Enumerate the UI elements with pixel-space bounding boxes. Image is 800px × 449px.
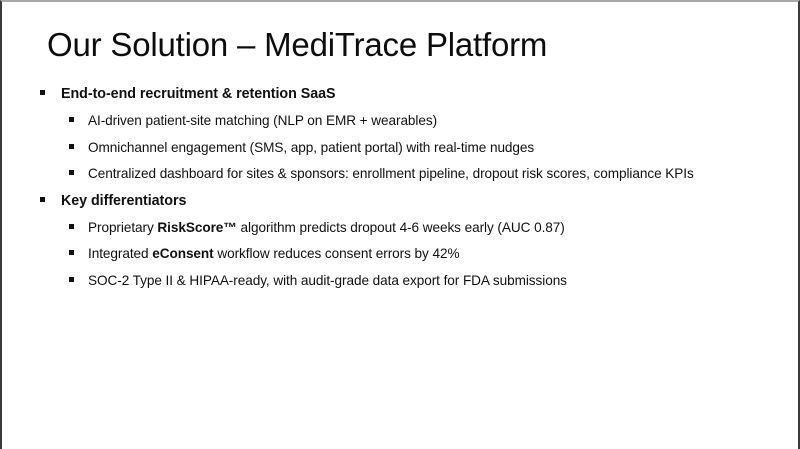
square-bullet-icon xyxy=(69,144,74,149)
bullet-text: Centralized dashboard for sites & sponso… xyxy=(88,161,694,186)
bullet-item: Omnichannel engagement (SMS, app, patien… xyxy=(69,135,785,162)
bullet-item: Proprietary RiskScore™ algorithm predict… xyxy=(69,215,785,242)
bullet-item: AI-driven patient-site matching (NLP on … xyxy=(69,108,785,135)
bullet-text: Proprietary RiskScore™ algorithm predict… xyxy=(88,215,565,240)
bullet-item: Integrated eConsent workflow reduces con… xyxy=(69,241,785,268)
bullet-text-run: algorithm predicts dropout 4-6 weeks ear… xyxy=(237,220,565,235)
bullet-text-run: Proprietary xyxy=(88,220,157,235)
bullet-text-emphasis: RiskScore™ xyxy=(157,220,236,235)
bullet-text: Omnichannel engagement (SMS, app, patien… xyxy=(88,135,534,160)
slide-canvas: Our Solution – MediTrace Platform End-to… xyxy=(0,0,800,449)
page-title: Our Solution – MediTrace Platform xyxy=(47,25,547,65)
bullet-text: Key differentiators xyxy=(61,188,186,214)
bullet-text: Integrated eConsent workflow reduces con… xyxy=(88,241,459,266)
square-bullet-icon xyxy=(40,90,45,95)
bullet-item: End-to-end recruitment & retention SaaS xyxy=(40,81,785,108)
bullet-text: AI-driven patient-site matching (NLP on … xyxy=(88,108,437,133)
bullet-text-run: Integrated xyxy=(88,246,152,261)
bullet-text-emphasis: eConsent xyxy=(152,246,213,261)
square-bullet-icon xyxy=(69,117,74,122)
bullet-text: SOC-2 Type II & HIPAA-ready, with audit-… xyxy=(88,268,567,293)
square-bullet-icon xyxy=(69,224,74,229)
square-bullet-icon xyxy=(69,277,74,282)
square-bullet-icon xyxy=(69,170,74,175)
bullet-text-run: workflow reduces consent errors by 42% xyxy=(214,246,460,261)
square-bullet-icon xyxy=(69,250,74,255)
bullet-text: End-to-end recruitment & retention SaaS xyxy=(61,81,336,107)
bullet-list: End-to-end recruitment & retention SaaSA… xyxy=(40,81,785,294)
square-bullet-icon xyxy=(40,197,45,202)
bullet-item: SOC-2 Type II & HIPAA-ready, with audit-… xyxy=(69,268,785,295)
bullet-item: Key differentiators xyxy=(40,188,785,215)
bullet-item: Centralized dashboard for sites & sponso… xyxy=(69,161,785,188)
